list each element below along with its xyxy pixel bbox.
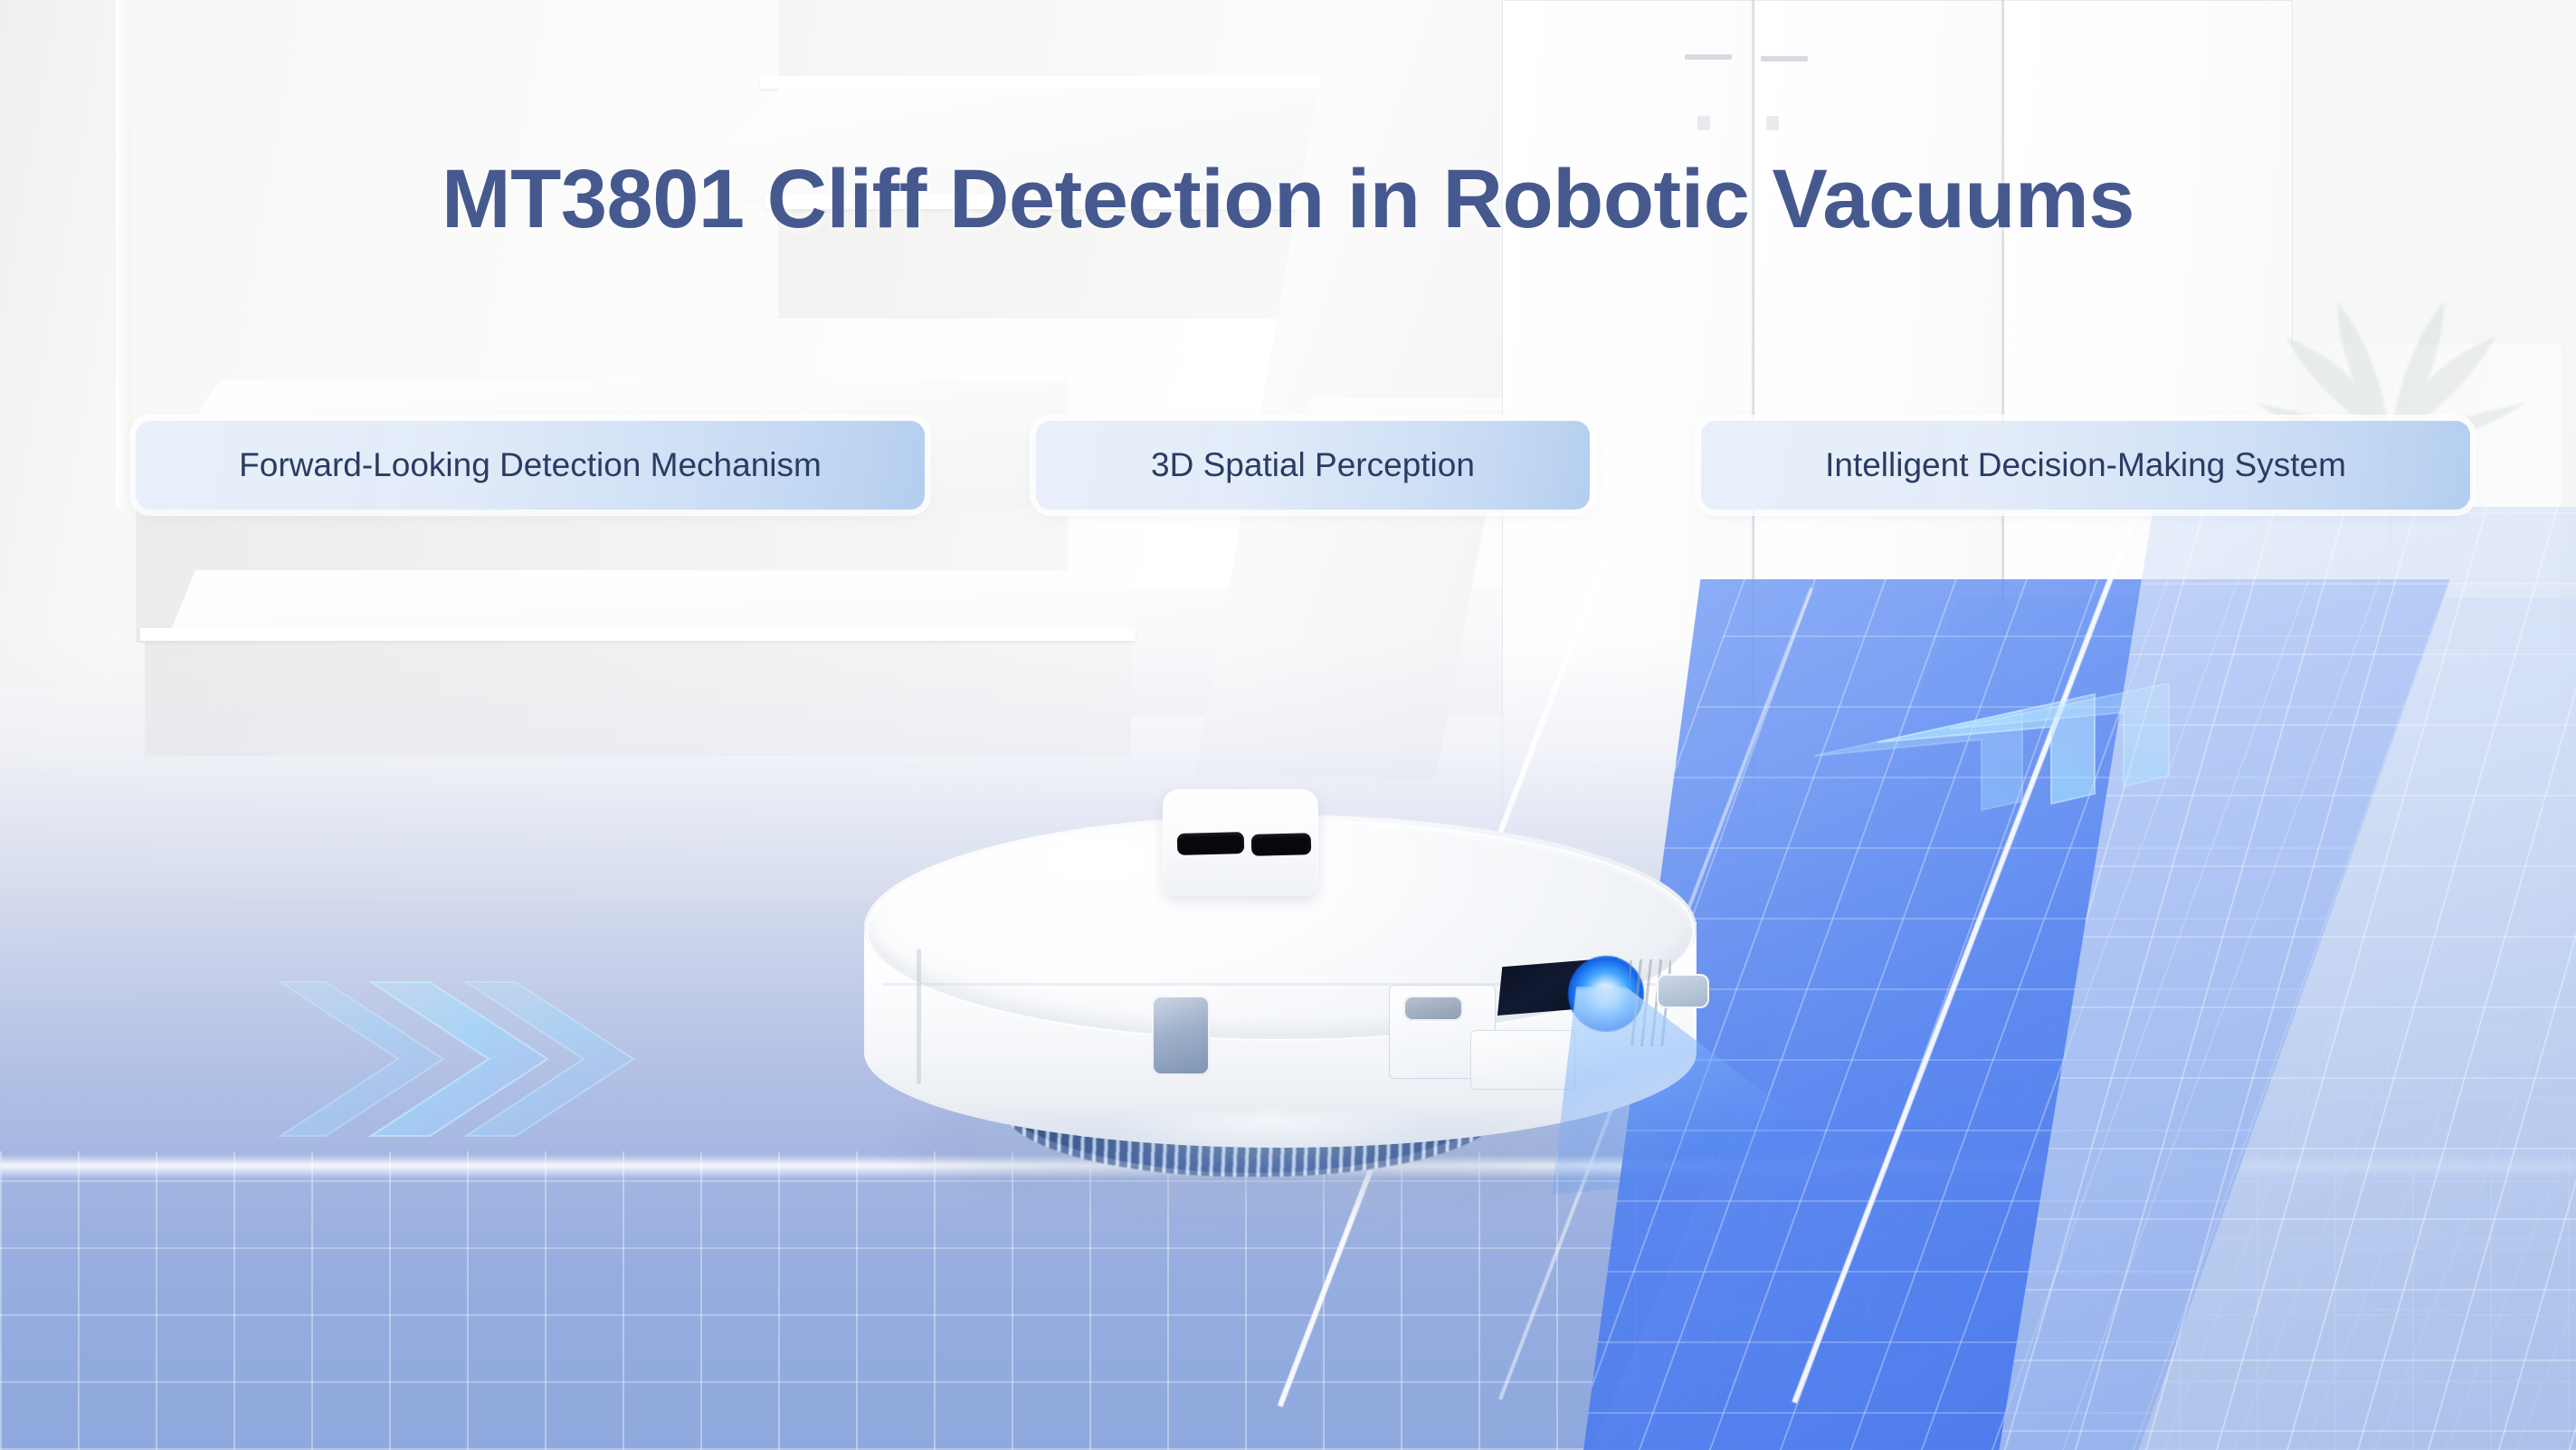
robot-vacuum — [864, 815, 1697, 1168]
cabinet-lock-left — [1697, 116, 1710, 130]
feature-pill-label: Intelligent Decision-Making System — [1825, 446, 2346, 484]
chevron-group-left — [271, 946, 651, 1172]
feature-pill-label: 3D Spatial Perception — [1151, 446, 1475, 484]
robot-side-window — [1152, 996, 1210, 1075]
robot-panel-button[interactable] — [1403, 996, 1463, 1021]
feature-pill-intelligent-decision-making[interactable]: Intelligent Decision-Making System — [1701, 421, 2470, 510]
robot-bumper-seam — [917, 949, 921, 1084]
robot-floor-reflection — [973, 1113, 1570, 1213]
lidar-sensor-slot-right — [1251, 833, 1312, 856]
stair-riser-top — [778, 0, 1412, 81]
hero-banner: MT3801 Cliff Detection in Robotic Vacuum… — [0, 0, 2576, 1450]
robot-lower-sensor-card — [1470, 1030, 1575, 1090]
cabinet-handle-left[interactable] — [1685, 54, 1732, 60]
lidar-sensor-slot-left — [1177, 832, 1245, 855]
cabinet-handle-right[interactable] — [1761, 56, 1808, 62]
chevron-group-right — [1796, 674, 2185, 882]
feature-pill-forward-looking-detection[interactable]: Forward-Looking Detection Mechanism — [136, 421, 925, 510]
page-title: MT3801 Cliff Detection in Robotic Vacuum… — [0, 152, 2576, 247]
feature-pill-label: Forward-Looking Detection Mechanism — [239, 446, 822, 484]
feature-pill-3d-spatial-perception[interactable]: 3D Spatial Perception — [1036, 421, 1590, 510]
wall-panel-left — [0, 0, 118, 688]
feature-pill-row: Forward-Looking Detection Mechanism 3D S… — [0, 421, 2576, 510]
cabinet-lock-right — [1766, 116, 1779, 130]
robot-front-window — [1657, 974, 1709, 1008]
